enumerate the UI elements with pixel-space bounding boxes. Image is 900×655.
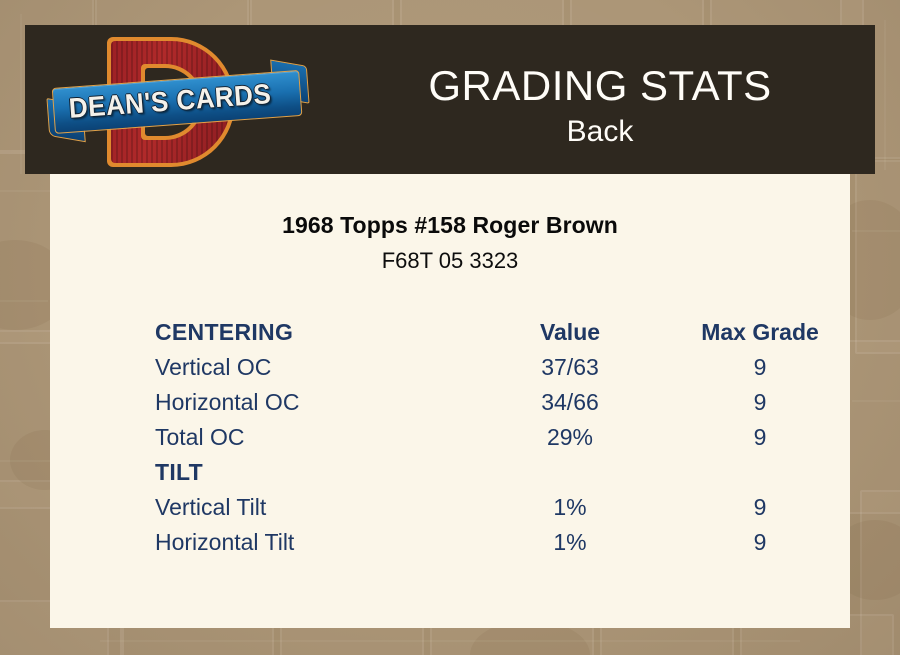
section-title-centering: CENTERING (155, 315, 475, 350)
row-value-horizontal-tilt: 1% (475, 525, 665, 560)
row-label-total-oc: Total OC (155, 420, 475, 455)
row-value-total-oc: 29% (475, 420, 665, 455)
row-label-horizontal-oc: Horizontal OC (155, 385, 475, 420)
page-header: DEAN'S CARDS GRADING STATS Back (25, 25, 875, 174)
section-tilt-grade-spacer (665, 455, 855, 490)
page-subtitle: Back (567, 114, 634, 150)
row-max-grade-vertical-oc: 9 (665, 350, 855, 385)
column-header-max-grade: Max Grade (665, 315, 855, 350)
row-value-vertical-oc: 37/63 (475, 350, 665, 385)
table-row: Vertical Tilt 1% 9 (155, 490, 855, 525)
section-title-tilt: TILT (155, 455, 475, 490)
header-title-group: GRADING STATS Back (325, 25, 875, 174)
table-section-header-row: TILT (155, 455, 855, 490)
row-label-horizontal-tilt: Horizontal Tilt (155, 525, 475, 560)
logo-ribbon-banner-icon: DEAN'S CARDS (45, 64, 306, 139)
table-row: Vertical OC 37/63 9 (155, 350, 855, 385)
content-panel: 1968 Topps #158 Roger Brown F68T 05 3323… (50, 174, 850, 628)
row-label-vertical-tilt: Vertical Tilt (155, 490, 475, 525)
row-value-vertical-tilt: 1% (475, 490, 665, 525)
section-tilt-value-spacer (475, 455, 665, 490)
row-max-grade-horizontal-oc: 9 (665, 385, 855, 420)
page-title: GRADING STATS (428, 62, 771, 110)
grading-stats-table: CENTERING Value Max Grade Vertical OC 37… (155, 315, 855, 560)
deans-cards-logo[interactable]: DEAN'S CARDS (47, 31, 307, 171)
row-max-grade-horizontal-tilt: 9 (665, 525, 855, 560)
column-header-value: Value (475, 315, 665, 350)
card-title: 1968 Topps #158 Roger Brown (50, 212, 850, 239)
table-row: Total OC 29% 9 (155, 420, 855, 455)
row-value-horizontal-oc: 34/66 (475, 385, 665, 420)
table-row: Horizontal Tilt 1% 9 (155, 525, 855, 560)
row-max-grade-vertical-tilt: 9 (665, 490, 855, 525)
logo-ribbon-text: DEAN'S CARDS (54, 71, 285, 132)
card-code: F68T 05 3323 (50, 248, 850, 274)
table-section-header-row: CENTERING Value Max Grade (155, 315, 855, 350)
row-max-grade-total-oc: 9 (665, 420, 855, 455)
table-row: Horizontal OC 34/66 9 (155, 385, 855, 420)
row-label-vertical-oc: Vertical OC (155, 350, 475, 385)
